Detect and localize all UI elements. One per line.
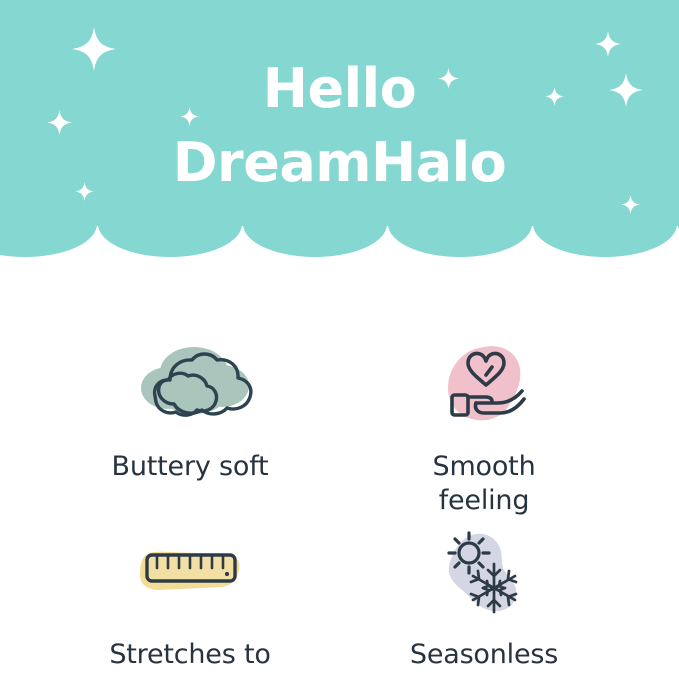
feature-label: Seasonless	[334, 638, 634, 672]
feature-item-smooth-feeling: Smooth feeling	[334, 332, 634, 518]
feature-label: Smooth feeling	[334, 450, 634, 518]
feature-label: Stretches to fit longer	[40, 638, 340, 676]
scalloped-edge-decoration	[0, 224, 679, 258]
feature-icon-wrapper	[334, 520, 634, 624]
feature-item-buttery-soft: Buttery soft	[40, 332, 340, 484]
hand-holding-heart-icon	[438, 341, 530, 427]
feature-icon-wrapper	[334, 332, 634, 436]
page-title: Hello DreamHalo	[0, 52, 679, 200]
hero-banner: Hello DreamHalo	[0, 0, 679, 258]
feature-icon-wrapper	[40, 520, 340, 624]
feature-grid: Buttery soft	[0, 258, 679, 676]
product-feature-card: Hello DreamHalo	[0, 0, 679, 676]
feature-item-stretches-to-fit-longer: Stretches to fit longer	[40, 520, 340, 676]
feature-item-seasonless: Seasonless	[334, 520, 634, 672]
sun-snowflake-icon	[436, 526, 532, 618]
ruler-icon	[135, 546, 245, 598]
feature-icon-wrapper	[40, 332, 340, 436]
feature-label: Buttery soft	[40, 450, 340, 484]
cloud-icon	[122, 338, 258, 430]
